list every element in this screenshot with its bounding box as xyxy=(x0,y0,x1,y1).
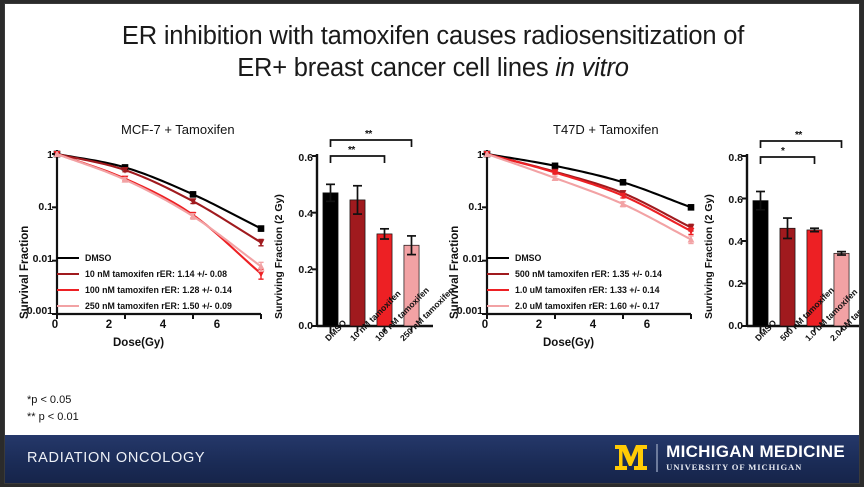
legend-label-mcf7-1: 10 nM tamoxifen rER: 1.14 +/- 0.08 xyxy=(85,269,227,279)
chart-mcf7-sf2: Surviving Fraction (2 Gy) 0.6 0.4 0.2 0.… xyxy=(265,104,445,394)
brand-divider xyxy=(656,444,658,472)
significance-marker-mcf7-inner: ** xyxy=(348,145,355,156)
title-line-2: ER+ breast cancer cell lines in vitro xyxy=(5,52,860,84)
legend-label-t47d-1: 500 nM tamoxifen rER: 1.35 +/- 0.14 xyxy=(515,269,662,279)
legend-swatch-t47d-3 xyxy=(487,305,509,307)
plot-area-t47d-survival xyxy=(443,104,701,374)
legend-label-t47d-0: DMSO xyxy=(515,253,541,263)
legend-label-mcf7-2: 100 nM tamoxifen rER: 1.28 +/- 0.14 xyxy=(85,285,232,295)
significance-marker-t47d-inner: * xyxy=(781,146,784,157)
pvalue-note-single: *p < 0.05 xyxy=(27,392,79,409)
block-m-glyph xyxy=(614,443,648,472)
chart-t47d-sf2: Surviving Fraction (2 Gy) 0.8 0.6 0.4 0.… xyxy=(695,104,860,394)
significance-marker-mcf7-outer: ** xyxy=(365,129,372,140)
page-title: ER inhibition with tamoxifen causes radi… xyxy=(5,20,860,84)
plot-area-t47d-sf2 xyxy=(695,104,860,394)
significance-marker-t47d-outer: ** xyxy=(795,130,802,141)
legend-swatch-mcf7-3 xyxy=(57,305,79,307)
slide-canvas: ER inhibition with tamoxifen causes radi… xyxy=(4,3,860,484)
title-line-2-italic: in vitro xyxy=(555,54,629,82)
pvalue-legend: *p < 0.05 ** p < 0.01 xyxy=(27,392,79,426)
brand-sub-text: UNIVERSITY OF MICHIGAN xyxy=(666,463,845,472)
legend-swatch-mcf7-2 xyxy=(57,289,79,291)
legend-label-mcf7-0: DMSO xyxy=(85,253,111,263)
legend-swatch-mcf7-0 xyxy=(57,257,79,259)
legend-label-t47d-2: 1.0 uM tamoxifen rER: 1.33 +/- 0.14 xyxy=(515,285,659,295)
title-line-2-text: ER+ breast cancer cell lines xyxy=(237,54,555,82)
brand-main-text: MICHIGAN MEDICINE xyxy=(666,443,845,460)
pvalue-note-double: ** p < 0.01 xyxy=(27,409,79,426)
legend-swatch-mcf7-1 xyxy=(57,273,79,275)
chart-t47d-survival: T47D + Tamoxifen Survival Fraction Dose(… xyxy=(443,104,701,374)
block-m-icon xyxy=(614,443,648,472)
footer-bar: RADIATION ONCOLOGY MICHIGAN MEDICINE UNI… xyxy=(5,435,860,483)
michigan-medicine-logo: MICHIGAN MEDICINE UNIVERSITY OF MICHIGAN xyxy=(614,443,845,472)
figure-panel-group: MCF-7 + Tamoxifen Survival Fraction Dose… xyxy=(13,104,853,404)
brand-wordmark: MICHIGAN MEDICINE UNIVERSITY OF MICHIGAN xyxy=(666,443,845,472)
plot-area-mcf7-survival xyxy=(13,104,271,374)
footer-department-label: RADIATION ONCOLOGY xyxy=(27,450,205,466)
legend-label-mcf7-3: 250 nM tamoxifen rER: 1.50 +/- 0.09 xyxy=(85,301,232,311)
legend-swatch-t47d-2 xyxy=(487,289,509,291)
legend-label-t47d-3: 2.0 uM tamoxifen rER: 1.60 +/- 0.17 xyxy=(515,301,659,311)
plot-area-mcf7-sf2 xyxy=(265,104,445,394)
legend-swatch-t47d-1 xyxy=(487,273,509,275)
chart-mcf7-survival: MCF-7 + Tamoxifen Survival Fraction Dose… xyxy=(13,104,271,374)
title-line-1: ER inhibition with tamoxifen causes radi… xyxy=(5,20,860,52)
legend-swatch-t47d-0 xyxy=(487,257,509,259)
